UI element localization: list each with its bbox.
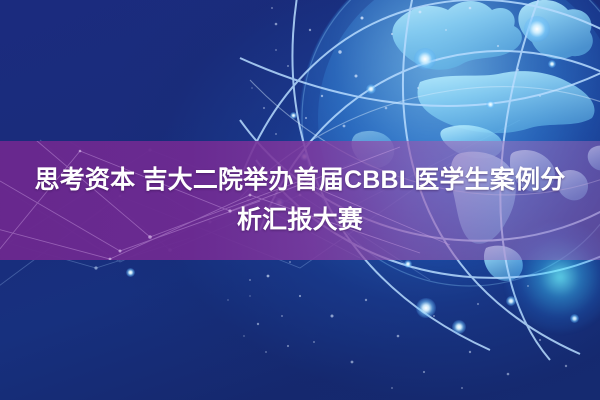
headline-line-1: 思考资本 吉大二院举办首届CBBL医学生案例分 <box>0 160 600 200</box>
banner-image: 思考资本 吉大二院举办首届CBBL医学生案例分 析汇报大赛 <box>0 0 600 400</box>
page-title: 思考资本 吉大二院举办首届CBBL医学生案例分 析汇报大赛 <box>0 160 600 240</box>
headline-line-2: 析汇报大赛 <box>0 200 600 240</box>
